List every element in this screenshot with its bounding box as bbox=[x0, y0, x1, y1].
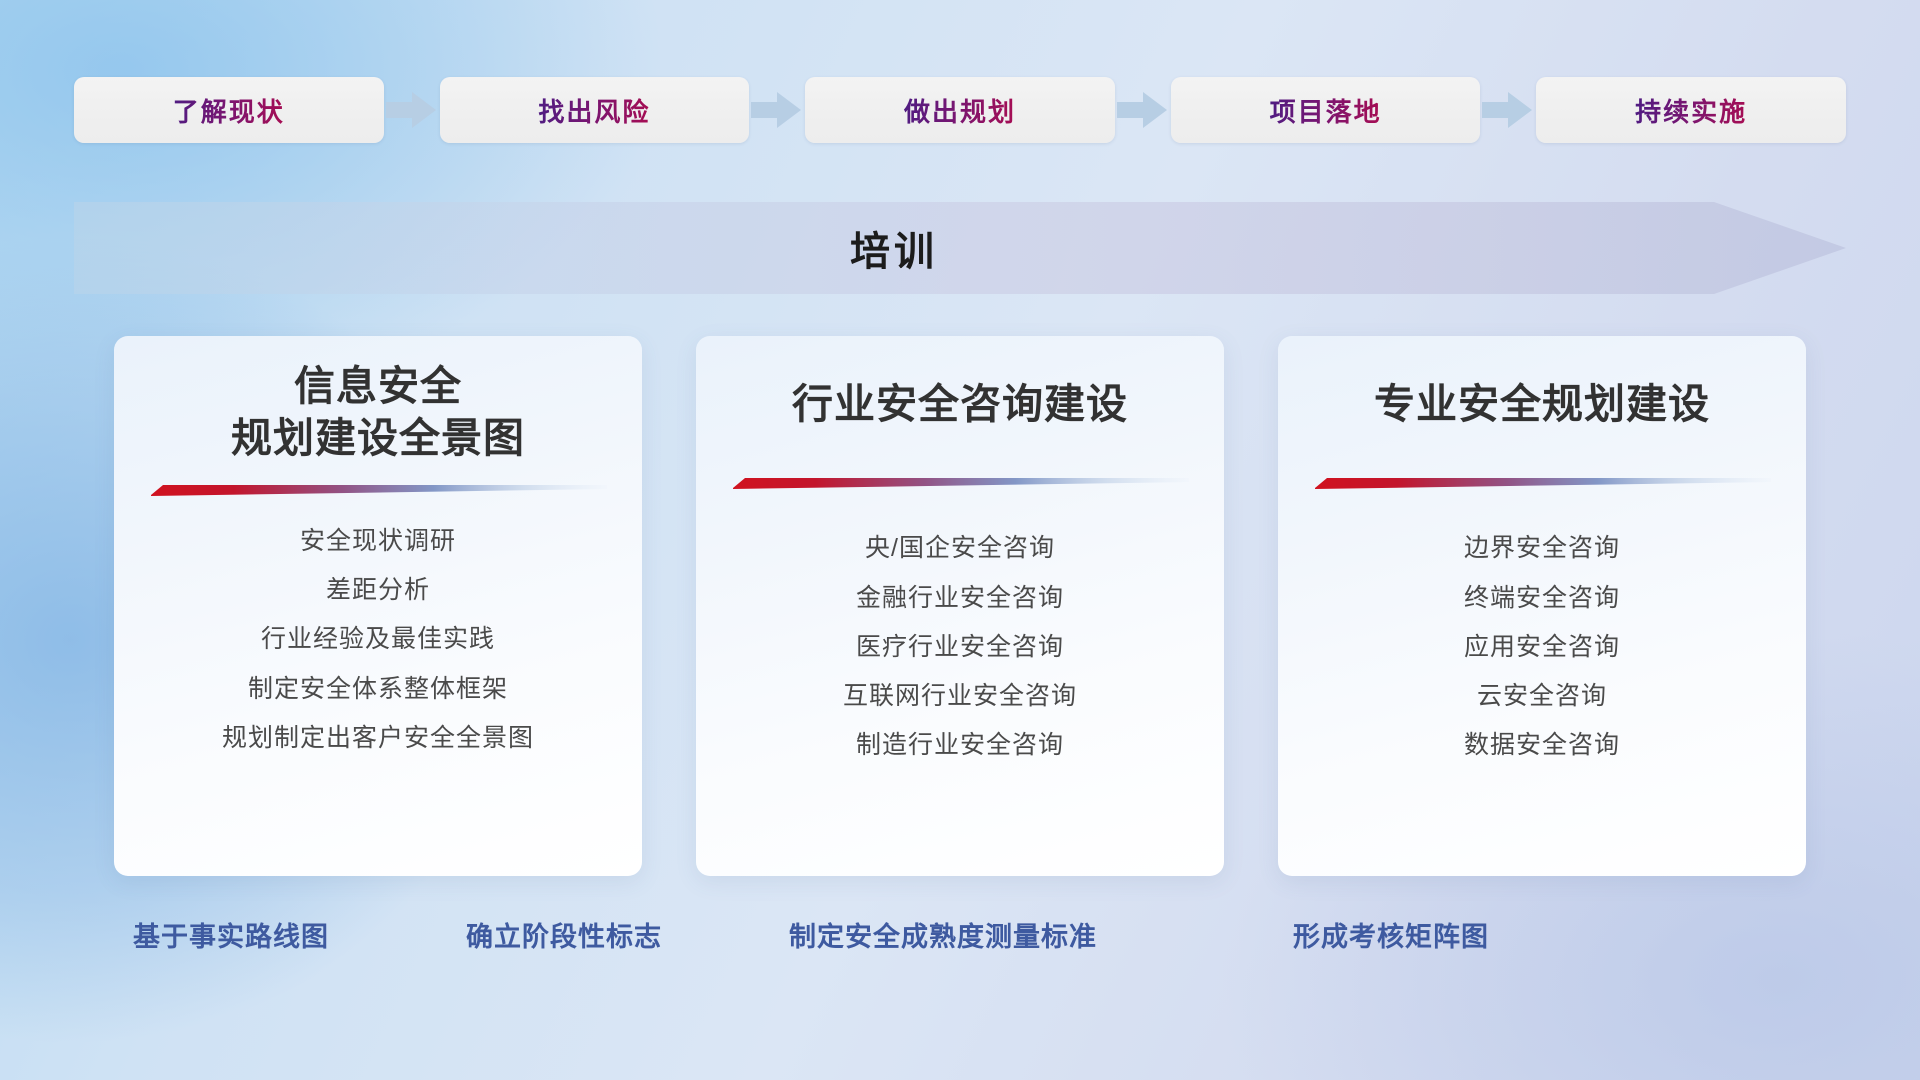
list-item: 制定安全体系整体框架 bbox=[248, 669, 508, 710]
card-underline-rule bbox=[149, 483, 607, 499]
slide-canvas: 了解现状 找出风险 做出规划 项目落地 bbox=[0, 0, 1920, 1080]
arrow-right-icon bbox=[384, 88, 440, 132]
caption-4: 形成考核矩阵图 bbox=[1293, 915, 1489, 954]
list-item: 应用安全咨询 bbox=[1464, 627, 1620, 668]
card-row: 信息安全 规划建设全景图 bbox=[114, 336, 1806, 876]
list-item: 行业经验及最佳实践 bbox=[261, 619, 495, 660]
list-item: 制造行业安全咨询 bbox=[856, 725, 1064, 766]
process-step-1[interactable]: 了解现状 bbox=[74, 77, 384, 143]
arrow-right-icon bbox=[1480, 88, 1536, 132]
list-item: 医疗行业安全咨询 bbox=[856, 627, 1064, 668]
card-title: 信息安全 规划建设全景图 bbox=[231, 360, 525, 465]
process-step-row: 了解现状 找出风险 做出规划 项目落地 bbox=[74, 76, 1846, 144]
card-underline-rule bbox=[731, 476, 1189, 492]
training-banner: 培训 bbox=[74, 202, 1846, 294]
process-step-1-label: 了解现状 bbox=[74, 77, 384, 143]
caption-row: 基于事实路线图 确立阶段性标志 制定安全成熟度测量标准 形成考核矩阵图 bbox=[0, 915, 1920, 965]
list-item: 互联网行业安全咨询 bbox=[843, 676, 1077, 717]
training-banner-label: 培训 bbox=[74, 202, 1714, 294]
process-step-5[interactable]: 持续实施 bbox=[1536, 77, 1846, 143]
card-professional-security-planning[interactable]: 专业安全规划建设 bbox=[1278, 336, 1806, 876]
card-industry-security-consulting[interactable]: 行业安全咨询建设 bbox=[696, 336, 1224, 876]
card-title: 专业安全规划建设 bbox=[1374, 378, 1710, 430]
list-item: 安全现状调研 bbox=[300, 521, 456, 562]
list-item: 边界安全咨询 bbox=[1464, 528, 1620, 569]
caption-2: 确立阶段性标志 bbox=[466, 915, 662, 954]
process-step-3[interactable]: 做出规划 bbox=[805, 77, 1115, 143]
list-item: 金融行业安全咨询 bbox=[856, 578, 1064, 619]
arrow-right-icon bbox=[749, 88, 805, 132]
list-item: 规划制定出客户安全全景图 bbox=[222, 718, 534, 759]
card-underline-rule bbox=[1313, 476, 1771, 492]
list-item: 央/国企安全咨询 bbox=[865, 528, 1055, 569]
card-information-security-blueprint[interactable]: 信息安全 规划建设全景图 bbox=[114, 336, 642, 876]
card-item-list: 央/国企安全咨询 金融行业安全咨询 医疗行业安全咨询 互联网行业安全咨询 制造行… bbox=[843, 528, 1077, 766]
list-item: 终端安全咨询 bbox=[1464, 578, 1620, 619]
process-step-3-label: 做出规划 bbox=[805, 77, 1115, 143]
caption-3: 制定安全成熟度测量标准 bbox=[789, 915, 1097, 954]
list-item: 云安全咨询 bbox=[1477, 676, 1607, 717]
card-title: 行业安全咨询建设 bbox=[792, 378, 1128, 430]
arrow-right-icon bbox=[1115, 88, 1171, 132]
process-step-2[interactable]: 找出风险 bbox=[440, 77, 750, 143]
process-step-2-label: 找出风险 bbox=[440, 77, 750, 143]
process-step-4-label: 项目落地 bbox=[1171, 77, 1481, 143]
process-step-4[interactable]: 项目落地 bbox=[1171, 77, 1481, 143]
card-item-list: 安全现状调研 差距分析 行业经验及最佳实践 制定安全体系整体框架 规划制定出客户… bbox=[222, 521, 534, 759]
card-item-list: 边界安全咨询 终端安全咨询 应用安全咨询 云安全咨询 数据安全咨询 bbox=[1464, 528, 1620, 766]
list-item: 数据安全咨询 bbox=[1464, 725, 1620, 766]
caption-1: 基于事实路线图 bbox=[133, 915, 329, 954]
list-item: 差距分析 bbox=[326, 570, 430, 611]
process-step-5-label: 持续实施 bbox=[1536, 77, 1846, 143]
